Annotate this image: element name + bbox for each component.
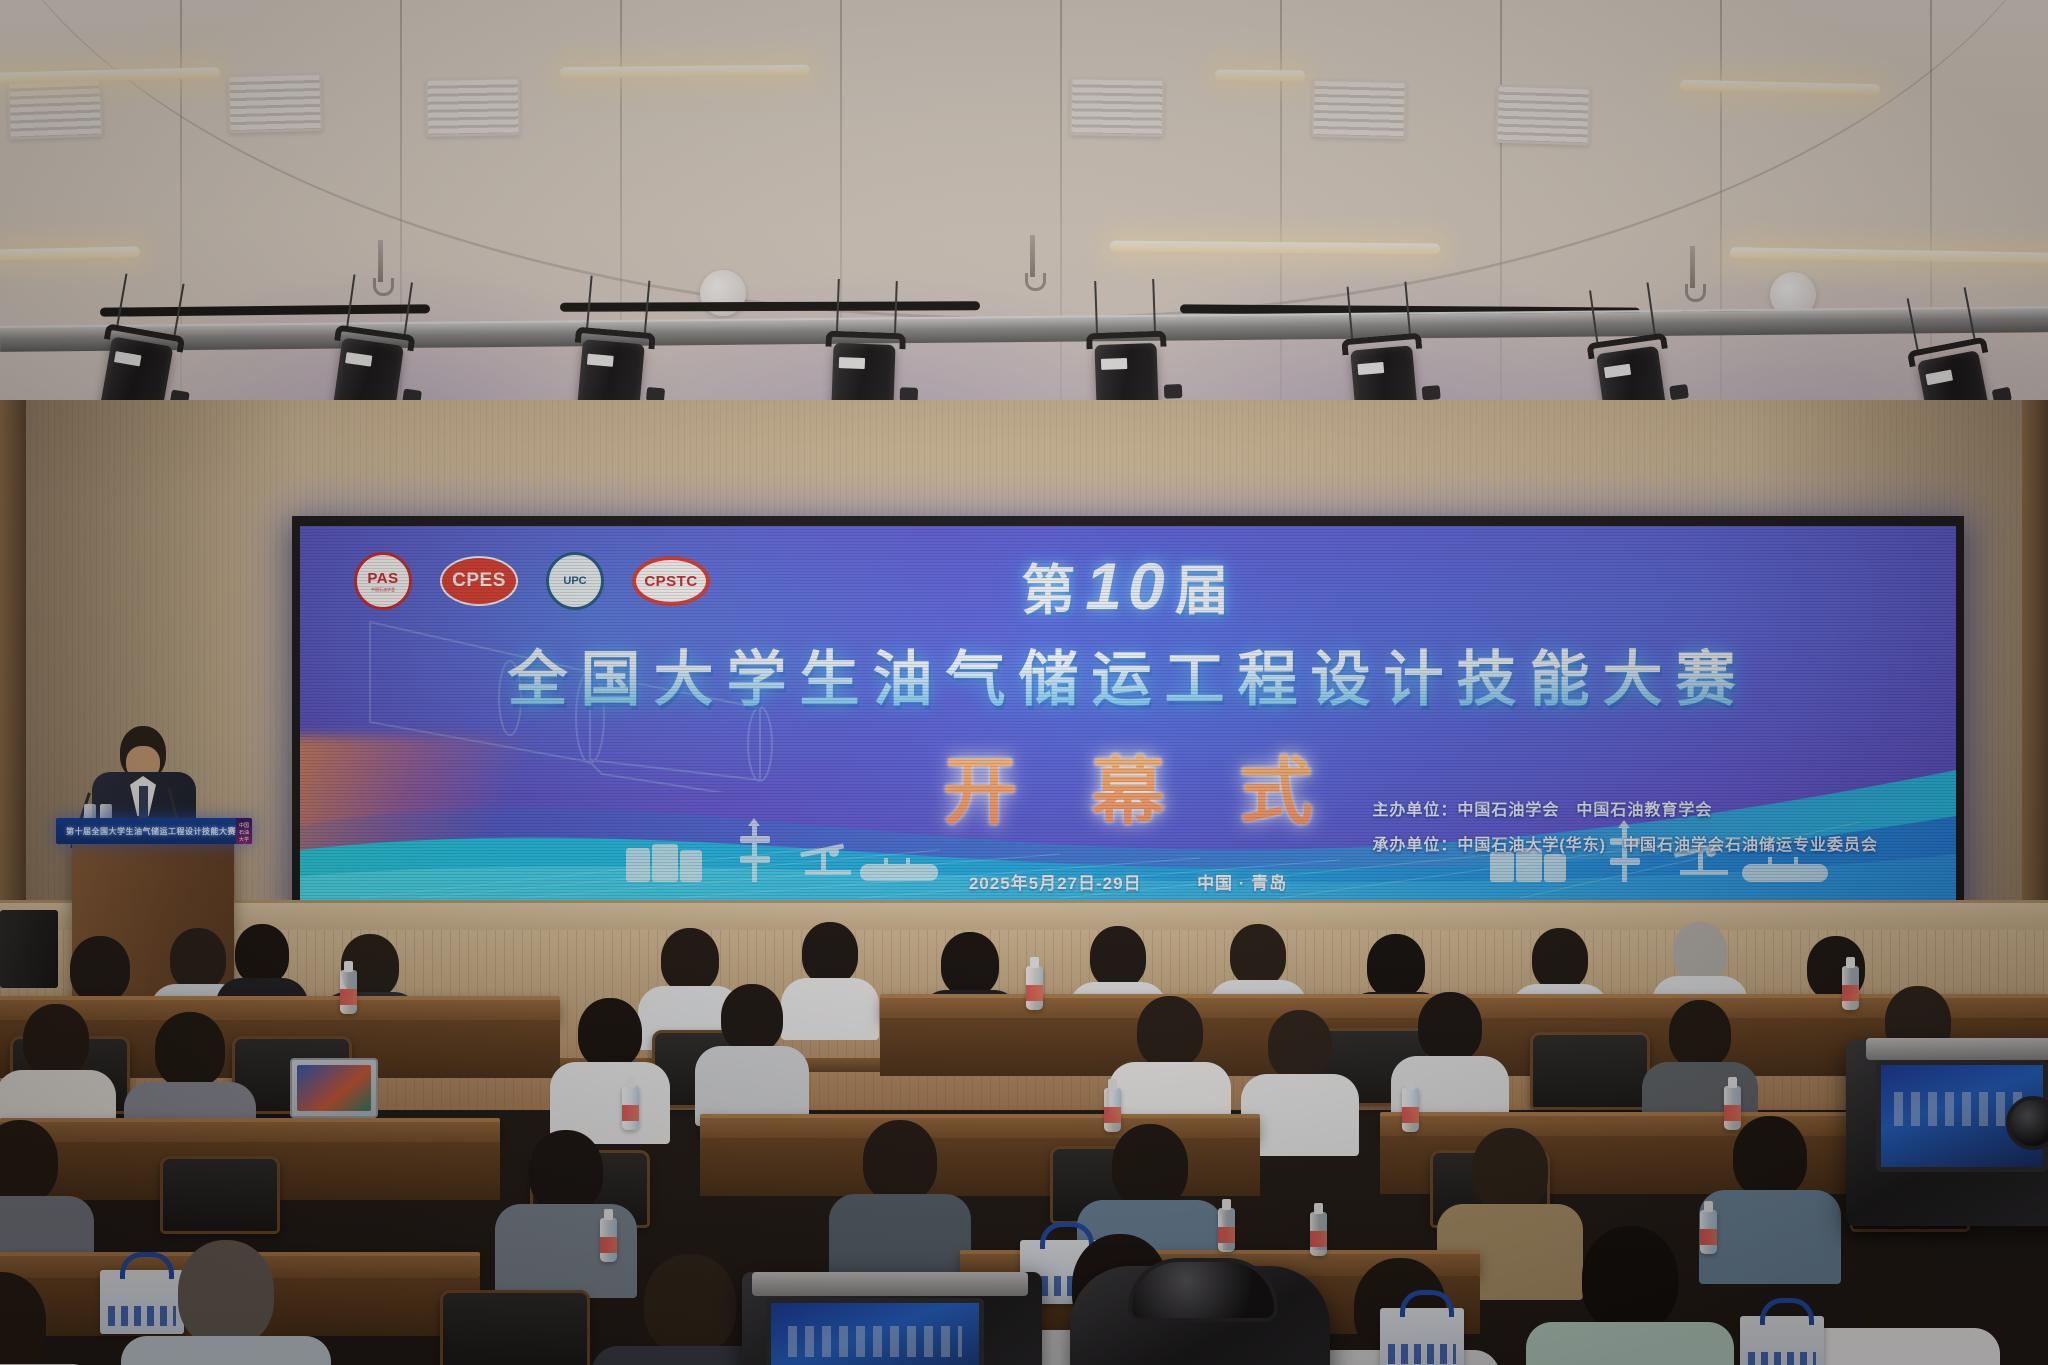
audience-chair — [440, 1290, 590, 1365]
water-bottle — [1402, 1088, 1419, 1132]
led-organizer-block: 主办单位：中国石油学会 中国石油教育学会 承办单位：中国石油大学(华东) 中国石… — [1372, 796, 1878, 866]
ordinal-title: 第 10 届 — [1021, 546, 1234, 625]
conference-tote-bag — [1380, 1308, 1464, 1365]
water-bottle — [1310, 1212, 1327, 1256]
led-screen: PAS 中国石油学会 CPES UPC CPSTC 第 10 — [300, 526, 1956, 900]
ceiling-light-strip — [1215, 70, 1305, 82]
speaker-tie — [139, 786, 148, 820]
podium-led-banner: 第十届全国大学生油气储运工程设计技能大赛 中国石油 大学(华东) — [56, 818, 252, 844]
conference-tote-bag — [1740, 1316, 1824, 1365]
water-bottle — [1218, 1208, 1235, 1252]
water-bottle — [1724, 1086, 1741, 1130]
camera-monitor-hood — [1866, 1038, 2048, 1060]
organizer-line: 主办单位：中国石油学会 中国石油教育学会 — [1372, 796, 1878, 820]
laptop — [290, 1058, 378, 1118]
water-bottle — [1026, 966, 1043, 1010]
water-bottle — [1700, 1210, 1717, 1254]
competition-main-title: 全国大学生油气储运工程设计技能大赛 — [300, 631, 1956, 718]
camera-monitor-screen — [766, 1298, 984, 1365]
ceiling-color-wash — [0, 120, 2048, 420]
wooden-desk-row — [0, 1118, 500, 1144]
podium-banner-side-text: 中国石油 大学(华东) — [236, 818, 252, 844]
event-location: 中国 · 青岛 — [1197, 874, 1287, 893]
ordinal-suffix: 届 — [1175, 546, 1235, 625]
ordinal-number: 10 — [1085, 548, 1170, 624]
wall-pillar — [0, 400, 26, 960]
ordinal-prefix: 第 — [1021, 546, 1081, 625]
led-screen-frame: PAS 中国石油学会 CPES UPC CPSTC 第 10 — [292, 516, 1964, 916]
camera-lens — [1128, 1258, 1278, 1322]
wooden-desk-row — [0, 996, 560, 1022]
conference-hall-photo: PAS 中国石油学会 CPES UPC CPSTC 第 10 — [0, 0, 2048, 1365]
audience-chair — [160, 1156, 280, 1234]
water-bottle — [340, 970, 357, 1014]
water-bottle — [1842, 966, 1859, 1010]
ceiling-panels — [0, 0, 2048, 420]
event-date-location: 2025年5月27日-29日 中国 · 青岛 — [300, 869, 1956, 894]
podium-banner-text: 第十届全国大学生油气储运工程设计技能大赛 — [56, 826, 236, 837]
water-bottle — [1104, 1088, 1121, 1132]
event-date: 2025年5月27日-29日 — [969, 874, 1142, 893]
audience-chair — [1530, 1032, 1650, 1110]
wall-pillar — [2022, 400, 2048, 960]
water-bottle — [600, 1218, 617, 1262]
conference-tote-bag — [100, 1270, 184, 1334]
water-bottle — [622, 1086, 639, 1130]
host-line: 承办单位：中国石油大学(华东) 中国石油学会石油储运专业委员会 — [1372, 831, 1878, 855]
camera-monitor-hood — [752, 1272, 1028, 1296]
